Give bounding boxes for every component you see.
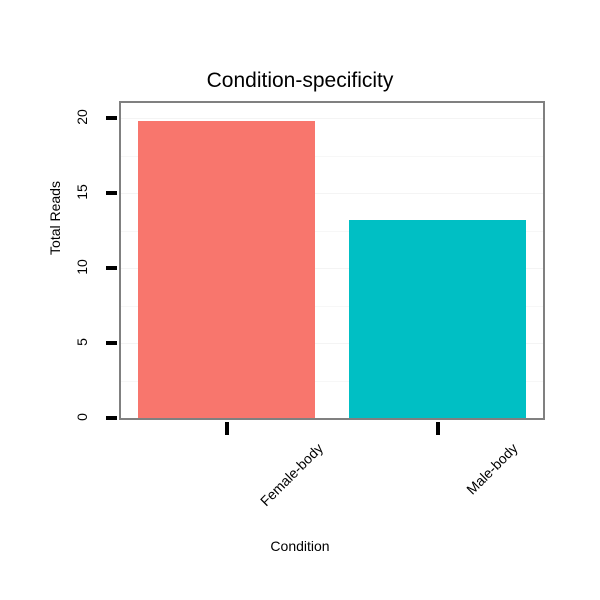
bar[interactable] (138, 121, 315, 418)
x-tick-label: Male-body (463, 440, 521, 498)
chart-title: Condition-specificity (0, 68, 600, 94)
y-tick-label: 5 (74, 322, 90, 362)
y-tick-label: 0 (74, 397, 90, 437)
y-tick-label: 20 (74, 97, 90, 137)
y-axis-title: Total Reads (47, 158, 63, 278)
y-tick-mark (106, 191, 117, 195)
x-tick-label: Female-body (256, 440, 325, 509)
bar[interactable] (349, 220, 526, 418)
y-tick-mark (106, 266, 117, 270)
y-tick-mark (106, 341, 117, 345)
plot-panel (119, 101, 545, 420)
chart-root: Condition-specificity Total Reads 201510… (0, 0, 600, 600)
y-tick-mark (106, 116, 117, 120)
y-tick-mark (106, 416, 117, 420)
x-axis-title: Condition (0, 538, 600, 554)
gridline-major (121, 118, 543, 119)
y-tick-label: 10 (74, 247, 90, 287)
y-tick-label: 15 (74, 172, 90, 212)
x-tick-mark (436, 422, 440, 435)
plot-area (121, 103, 543, 418)
x-tick-mark (225, 422, 229, 435)
